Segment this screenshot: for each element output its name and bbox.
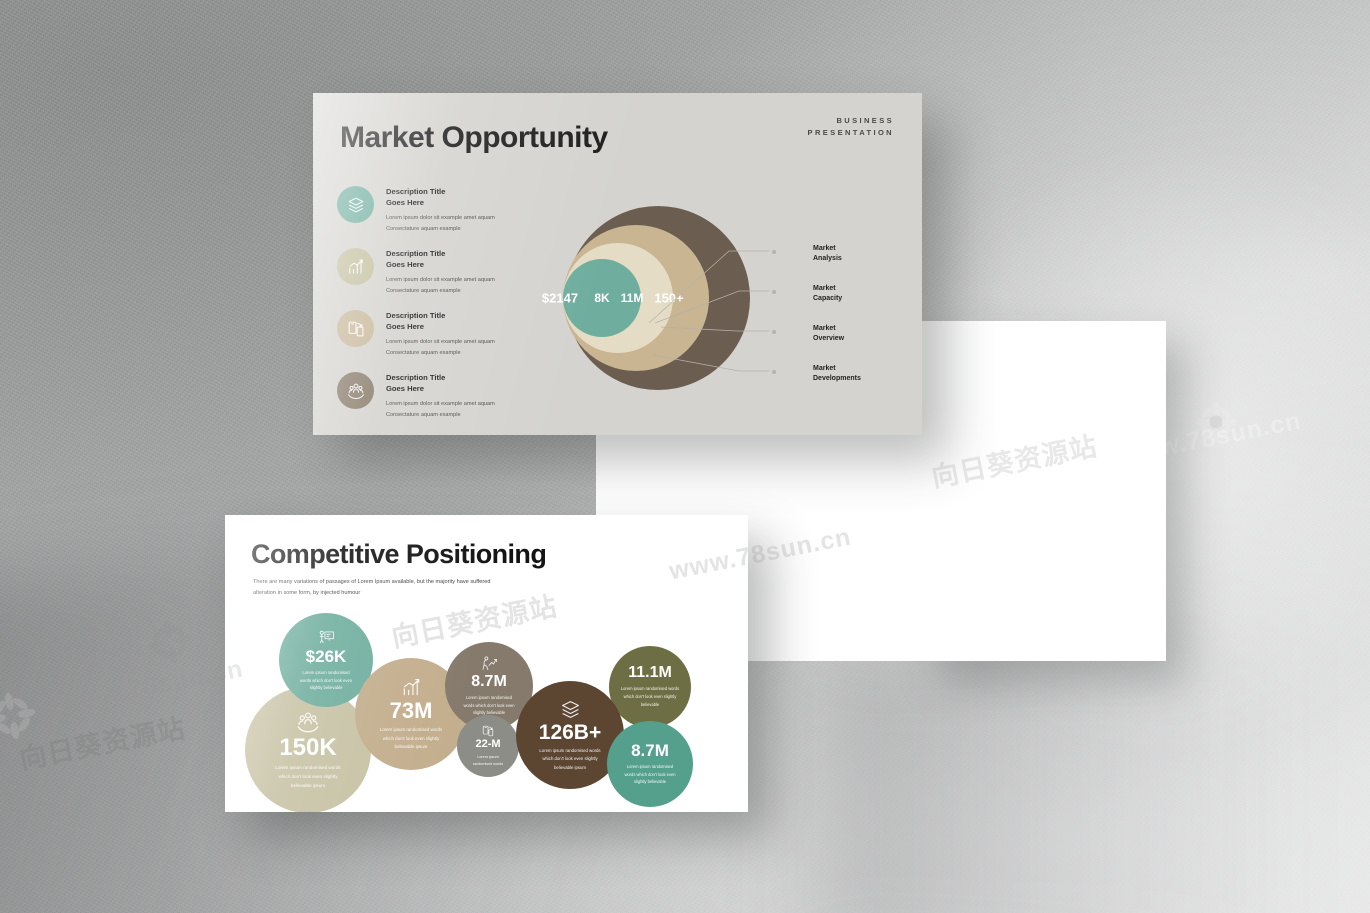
feature-text-3: Description Title Goes Here Lorem ipsum … [386,310,495,359]
ring-label-2147: $2147 [542,291,578,306]
project-badge-3 [1020,461,1104,545]
slide-market-opportunity[interactable]: Market Opportunity BUSINESS PRESENTATION… [313,93,922,435]
teamwork-hands-icon [295,709,321,735]
bubble-value-87m-taupe: 8.7M [471,674,507,690]
mobile-transfer-icon [481,724,495,738]
project-card-3[interactable]: Project Title Text Here There are many v… [994,435,1130,658]
bubble-desc-150k: Lorem ipsum randomised words which don't… [264,764,352,790]
project-title-2: Project Title Text Here [920,583,933,605]
project-desc-3: There are many variations of passages of… [994,612,1130,658]
bubble-87m-teal[interactable]: 8.7M Lorem ipsum randomised words which … [607,721,693,807]
slide3-subtitle: There are many variations of passages of… [253,577,503,599]
feature-icon-bg-2 [337,248,374,285]
feature-text-2: Description Title Goes Here Lorem ipsum … [386,248,495,297]
bubble-value-26k: $26K [306,648,347,665]
feature-item-1[interactable]: Description Title Goes Here Lorem ipsum … [337,186,552,235]
bubble-value-87m-teal: 8.7M [631,742,669,759]
bubble-value-73m: 73M [390,700,433,722]
bubble-value-111m: 11.1M [628,665,672,681]
slide3-title: Competitive Positioning [251,539,546,570]
slide2-intro-line2: ave variations [920,381,1152,393]
callout-market-developments: Market Developments [813,364,861,384]
bubble-111m[interactable]: 11.1M Lorem ipsum randomised words which… [609,646,691,728]
feature-desc-2: Lorem ipsum dolor sit example amet aquam… [386,275,495,297]
callout-market-overview: Market Overview [813,324,844,344]
project-photo-2 [920,435,933,571]
bubble-150k[interactable]: 150K Lorem ipsum randomised words which … [245,687,371,812]
growth-person-icon [480,655,498,673]
feature-icon-bg-3 [337,310,374,347]
feature-icon-bg-1 [337,186,374,223]
bubble-icon-87m-taupe [480,655,498,673]
bubble-icon-73m [400,676,423,699]
mobile-transfer-icon [346,319,366,339]
slide-project-showcase[interactable]: ns of passages of Lorem Ipsum available,… [920,321,1166,661]
layers-icon [346,195,366,215]
callout-dot-2 [772,290,776,294]
page-title: Market Opportunity [340,121,608,155]
feature-title-4: Description Title Goes Here [386,372,495,394]
ring-label-8k: 8K [594,291,609,305]
teamwork-hands-icon [346,381,366,401]
bubble-icon-126b [559,698,582,721]
bubble-22m[interactable]: 22-M Lorem ipsum randomised words [457,715,519,777]
bubble-value-150k: 150K [279,736,336,760]
kicker-line-2: PRESENTATION [808,127,894,139]
slide1-kicker: BUSINESS PRESENTATION [808,115,894,138]
bubble-desc-126b: Lorem ipsum randomised words which don't… [530,747,611,771]
slide2-intro-line1: ns of passages of Lorem Ipsum available,… [920,369,1152,381]
feature-item-4[interactable]: Description Title Goes Here Lorem ipsum … [337,372,552,421]
callout-market-capacity: Market Capacity [813,284,842,304]
slide2-intro: ns of passages of Lorem Ipsum available,… [920,369,1152,393]
feature-item-2[interactable]: Description Title Goes Here Lorem ipsum … [337,248,552,297]
slide-competitive-positioning[interactable]: Competitive Positioning There are many v… [225,515,748,812]
feature-title-3: Description Title Goes Here [386,310,495,332]
bubble-desc-73m: Lorem ipsum randomised words which don't… [370,726,453,751]
feature-title-1: Description Title Goes Here [386,186,495,208]
bubble-desc-87m-taupe: Lorem ipsum randomised words which don't… [456,694,523,717]
bubble-desc-111m: Lorem ipsum randomised words which don't… [614,685,687,708]
callout-market-analysis: Market Analysis [813,244,842,264]
feature-text-4: Description Title Goes Here Lorem ipsum … [386,372,495,421]
bubble-desc-22m: Lorem ipsum randomised words [467,754,508,768]
slide3-subtitle-line1: There are many variations of passages of… [253,577,503,588]
callout-dot-3 [772,330,776,334]
presenter-board-icon [317,628,336,647]
feature-desc-4: Lorem ipsum dolor sit example amet aquam… [386,399,495,421]
bubble-desc-87m-teal: Lorem ipsum randomised words which don't… [617,763,684,786]
project-photo-3 [994,435,1130,571]
feature-title-2: Description Title Goes Here [386,248,495,270]
project-title-3: Project Title Text Here [994,583,1130,605]
kicker-line-1: BUSINESS [808,115,894,127]
bubble-icon-22m [481,724,495,738]
project-desc-2: There are many variations of passages of… [920,612,933,658]
growth-chart-icon [346,257,366,277]
slide3-subtitle-line2: alteration in some form, by injected hum… [253,588,503,599]
callout-dot-4 [772,370,776,374]
growth-chart-icon [400,676,423,699]
callout-dot-1 [772,250,776,254]
pie-chart-icon [1045,486,1079,520]
bubble-value-22m: 22-M [475,739,500,750]
ring-label-11m: 11M [621,291,644,305]
feature-text-1: Description Title Goes Here Lorem ipsum … [386,186,495,235]
project-card-2[interactable]: Project Title Text Here There are many v… [920,435,933,658]
bubble-icon-26k [317,628,336,647]
bubble-desc-26k: Lorem ipsum randomised words which don't… [291,669,360,693]
feature-desc-1: Lorem ipsum dolor sit example amet aquam… [386,213,495,235]
feature-item-3[interactable]: Description Title Goes Here Lorem ipsum … [337,310,552,359]
bubble-icon-150k [295,709,321,735]
feature-icon-bg-4 [337,372,374,409]
layers-icon [559,698,582,721]
feature-desc-3: Lorem ipsum dolor sit example amet aquam… [386,337,495,359]
bubble-value-126b: 126B+ [539,722,601,743]
